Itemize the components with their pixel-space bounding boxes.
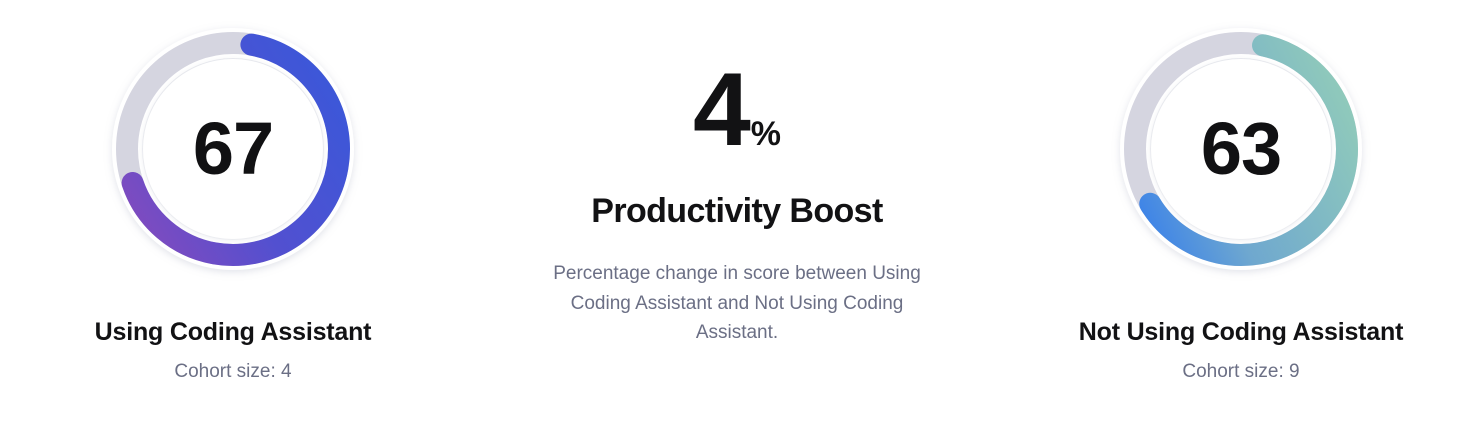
delta-value-row: 4 % (693, 58, 781, 162)
gauge-label-right: Not Using Coding Assistant (1079, 317, 1403, 347)
gauge-cohort-left: Cohort size: 4 (174, 361, 291, 384)
gauge-value-right: 63 (1113, 21, 1369, 277)
delta-description: Percentage change in score between Using… (537, 259, 937, 347)
delta-title: Productivity Boost (591, 192, 882, 231)
delta-number: 4 (693, 58, 748, 162)
delta-unit: % (751, 117, 781, 151)
productivity-comparison-widget: 67 Using Coding Assistant Cohort size: 4… (0, 0, 1474, 426)
gauge-cohort-right: Cohort size: 9 (1182, 361, 1299, 384)
gauge-value-left: 67 (105, 21, 361, 277)
delta-summary-panel: 4 % Productivity Boost Percentage change… (504, 0, 970, 347)
gauge-panel-using-coding-assistant: 67 Using Coding Assistant Cohort size: 4 (0, 0, 466, 384)
gauge-panel-not-using-coding-assistant: 63 Not Using Coding Assistant Cohort siz… (1008, 0, 1474, 384)
gauge-not-using-coding-assistant[interactable]: 63 (1113, 21, 1369, 277)
gauge-label-left: Using Coding Assistant (95, 317, 372, 347)
gauge-using-coding-assistant[interactable]: 67 (105, 21, 361, 277)
